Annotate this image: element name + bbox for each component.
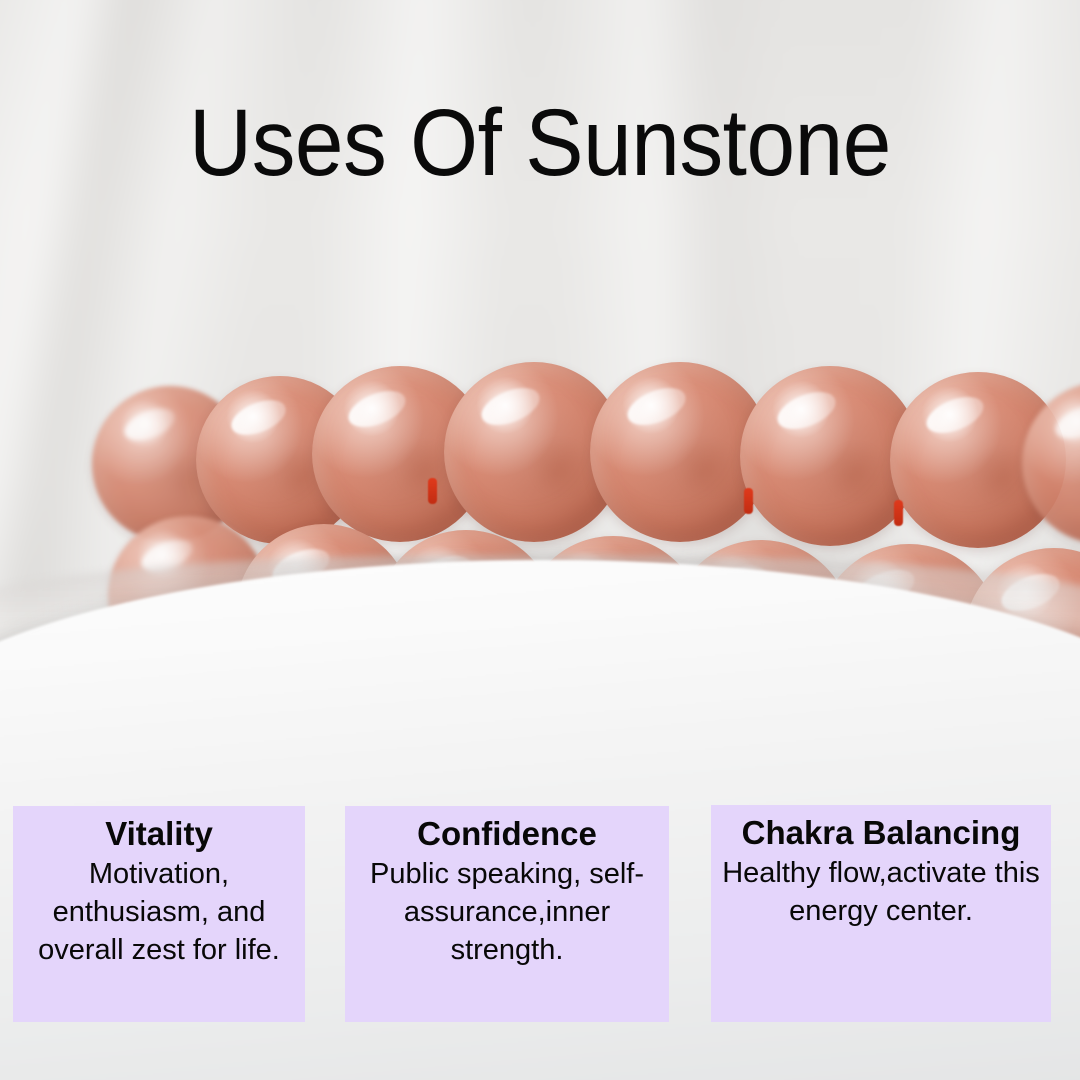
info-card-title: Chakra Balancing (717, 813, 1045, 853)
info-card-confidence[interactable]: Confidence Public speaking, self-assuran… (345, 806, 669, 1022)
info-card-chakra-balancing[interactable]: Chakra Balancing Healthy flow,activate t… (711, 805, 1051, 1022)
info-card-title: Vitality (19, 814, 299, 854)
info-card-body: Healthy flow,activate this energy center… (717, 855, 1045, 930)
info-card-title: Confidence (351, 814, 663, 854)
bracelet-cord (744, 488, 753, 514)
info-card-vitality[interactable]: Vitality Motivation, enthusiasm, and ove… (13, 806, 305, 1022)
info-card-body: Motivation, enthusiasm, and overall zest… (19, 856, 299, 969)
bracelet-cord (428, 478, 437, 504)
info-card-body: Public speaking, self-assurance,inner st… (351, 856, 663, 969)
page-title: Uses Of Sunstone (43, 96, 1037, 191)
bracelet-cord (894, 500, 903, 526)
infographic-canvas: Uses Of Sunstone Vitality Motivation, en… (0, 0, 1080, 1080)
